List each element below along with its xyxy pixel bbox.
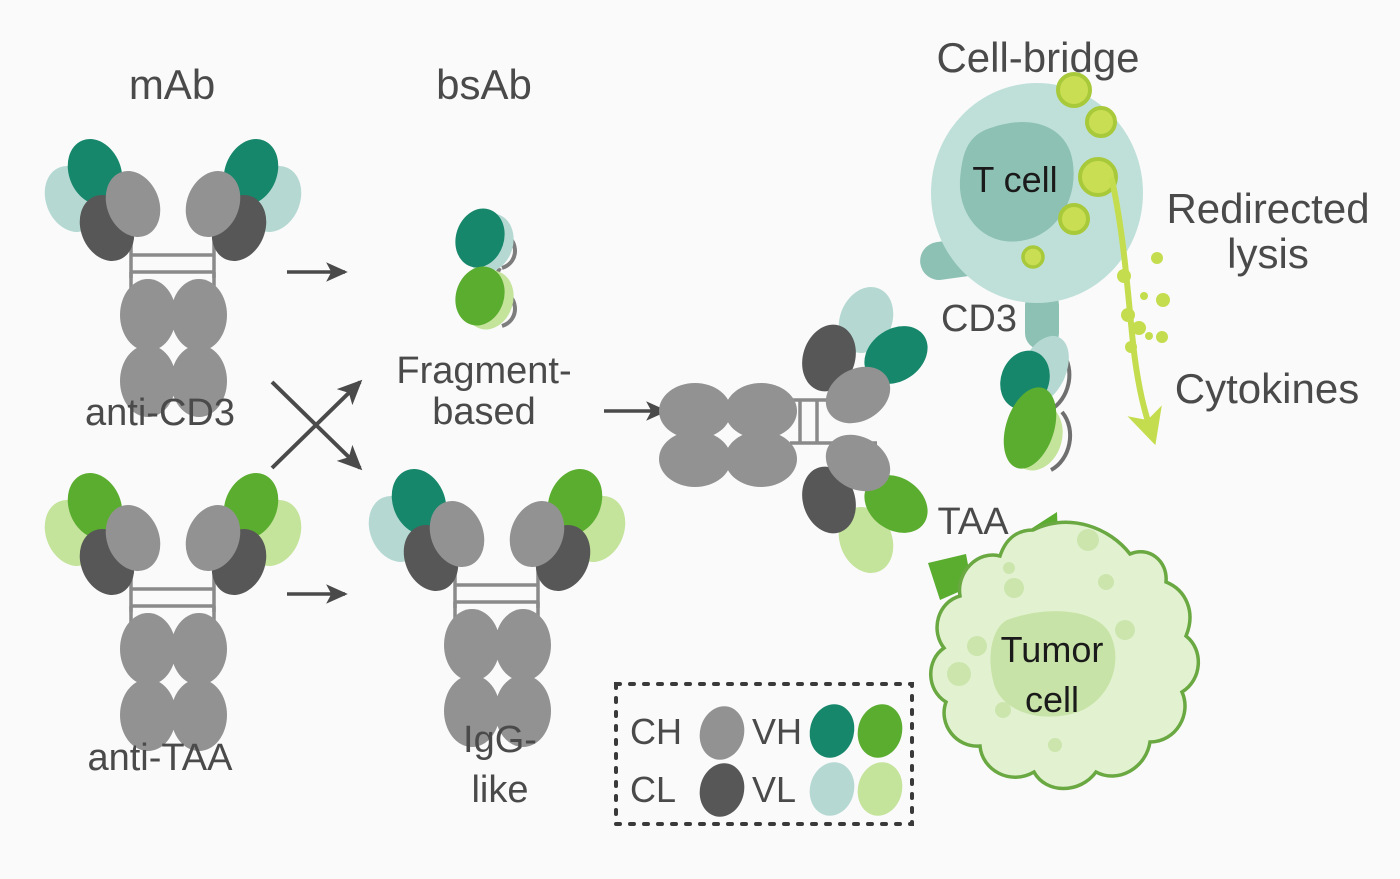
label-tumor-cell-line1: Tumor (1001, 629, 1104, 670)
legend-label-ch: CH (630, 711, 682, 752)
label-tumor-cell-line2: cell (1025, 679, 1079, 720)
ch-domain-fc-left (120, 279, 176, 351)
label-fragment-based-line1: Fragment- (396, 350, 571, 392)
label-igg-like-line1: IgG- (463, 719, 537, 761)
annotation-cell-bridge: Cell-bridge (936, 34, 1139, 81)
column-header-mab: mAb (129, 61, 215, 108)
label-fragment-based-line2: based (432, 391, 536, 433)
legend-label-vh: VH (752, 711, 802, 752)
label-igg-like-line2: like (471, 769, 528, 811)
ch-domain-fc-left (444, 609, 500, 681)
label-cd3-receptor: CD3 (941, 298, 1017, 340)
column-header-bsab: bsAb (436, 61, 532, 108)
legend-label-vl: VL (752, 769, 796, 810)
ch-domain-fc-top-outer (659, 383, 731, 439)
ch-domain-fc-right (171, 613, 227, 685)
label-anti-taa: anti-TAA (87, 737, 233, 779)
label-t-cell: T cell (972, 159, 1057, 200)
ch-domain-fc-bottom-outer (659, 431, 731, 487)
label-anti-cd3: anti-CD3 (85, 392, 235, 434)
ch-domain-fc-right (171, 279, 227, 351)
annotation-redirected-lysis-line2: lysis (1227, 230, 1309, 277)
annotation-cytokines: Cytokines (1175, 365, 1359, 412)
annotation-redirected-lysis-line1: Redirected (1166, 185, 1369, 232)
ch-domain-fc-right (495, 609, 551, 681)
ch-domain-fc-top-inner (725, 383, 797, 439)
ch-domain-fc-bottom-inner (725, 431, 797, 487)
figure-canvas: mAb bsAb anti-CD3 (0, 0, 1400, 879)
ch-domain-fc-left (120, 613, 176, 685)
legend-label-cl: CL (630, 769, 676, 810)
label-taa: TAA (937, 501, 1009, 543)
